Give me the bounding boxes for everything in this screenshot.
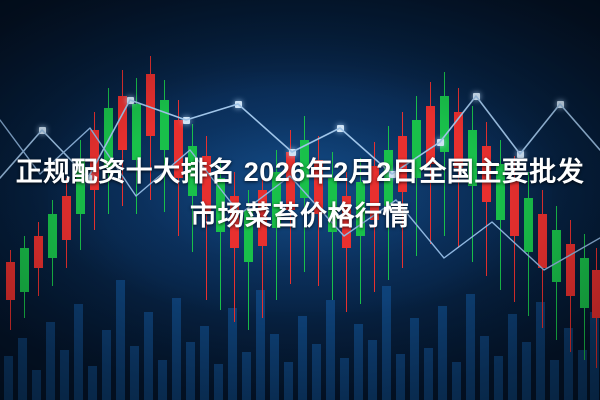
banner-image: 正规配资十大排名 2026年2月2日全国主要批发 市场菜苔价格行情 [0, 0, 600, 400]
trend-node [39, 127, 46, 134]
trend-node [235, 101, 242, 108]
overlay-title: 正规配资十大排名 2026年2月2日全国主要批发 市场菜苔价格行情 [0, 150, 600, 238]
trend-node [127, 97, 134, 104]
trend-node [437, 139, 444, 146]
trend-node [337, 125, 344, 132]
overlay-title-line-1: 正规配资十大排名 2026年2月2日全国主要批发 [14, 150, 586, 194]
trend-node [557, 101, 564, 108]
overlay-title-line-2: 市场菜苔价格行情 [14, 194, 586, 238]
trend-node [473, 93, 480, 100]
trend-node [183, 117, 190, 124]
